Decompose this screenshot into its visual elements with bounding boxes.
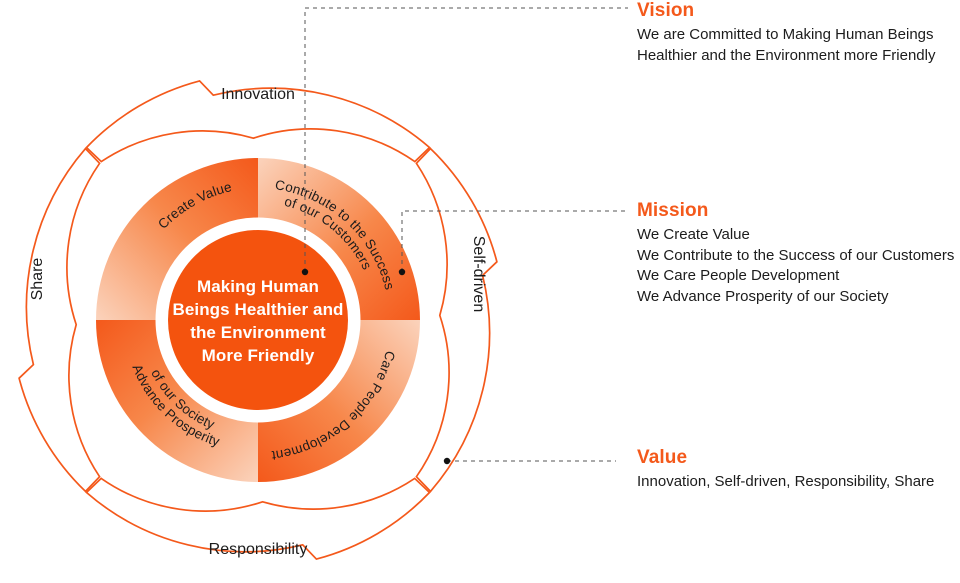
core-statement: Making Human Beings Healthier and the En… bbox=[168, 275, 348, 367]
outer-label-innovation: Innovation bbox=[158, 86, 358, 104]
core-statement-line-3: the Environment bbox=[168, 321, 348, 344]
mission-title: Mission bbox=[637, 200, 954, 222]
leader-dot-value bbox=[444, 458, 450, 464]
leader-line-mission bbox=[402, 211, 628, 272]
outer-label-self-driven: Self-driven bbox=[469, 214, 487, 334]
outer-label-share: Share bbox=[29, 219, 47, 339]
vision-line-2: Healthier and the Environment more Frien… bbox=[637, 46, 935, 67]
core-statement-line-2: Beings Healthier and bbox=[168, 298, 348, 321]
vision-panel: Vision We are Committed to Making Human … bbox=[637, 0, 935, 66]
mission-line-4: We Advance Prosperity of our Society bbox=[637, 287, 954, 308]
mission-panel: Mission We Create Value We Contribute to… bbox=[637, 200, 954, 307]
core-statement-line-4: More Friendly bbox=[168, 344, 348, 367]
core-statement-line-1: Making Human bbox=[168, 275, 348, 298]
value-line-1: Innovation, Self-driven, Responsibility,… bbox=[637, 472, 934, 493]
mission-line-1: We Create Value bbox=[637, 225, 954, 246]
mission-line-2: We Contribute to the Success of our Cust… bbox=[637, 246, 954, 267]
outer-label-responsibility: Responsibility bbox=[158, 541, 358, 559]
diagram-canvas: Create Value Contribute to the Success o… bbox=[0, 0, 960, 583]
value-title: Value bbox=[637, 447, 934, 469]
leader-dot-mission bbox=[399, 269, 405, 275]
mission-line-3: We Care People Development bbox=[637, 266, 954, 287]
value-panel: Value Innovation, Self-driven, Responsib… bbox=[637, 447, 934, 493]
vision-title: Vision bbox=[637, 0, 935, 22]
vision-line-1: We are Committed to Making Human Beings bbox=[637, 25, 935, 46]
